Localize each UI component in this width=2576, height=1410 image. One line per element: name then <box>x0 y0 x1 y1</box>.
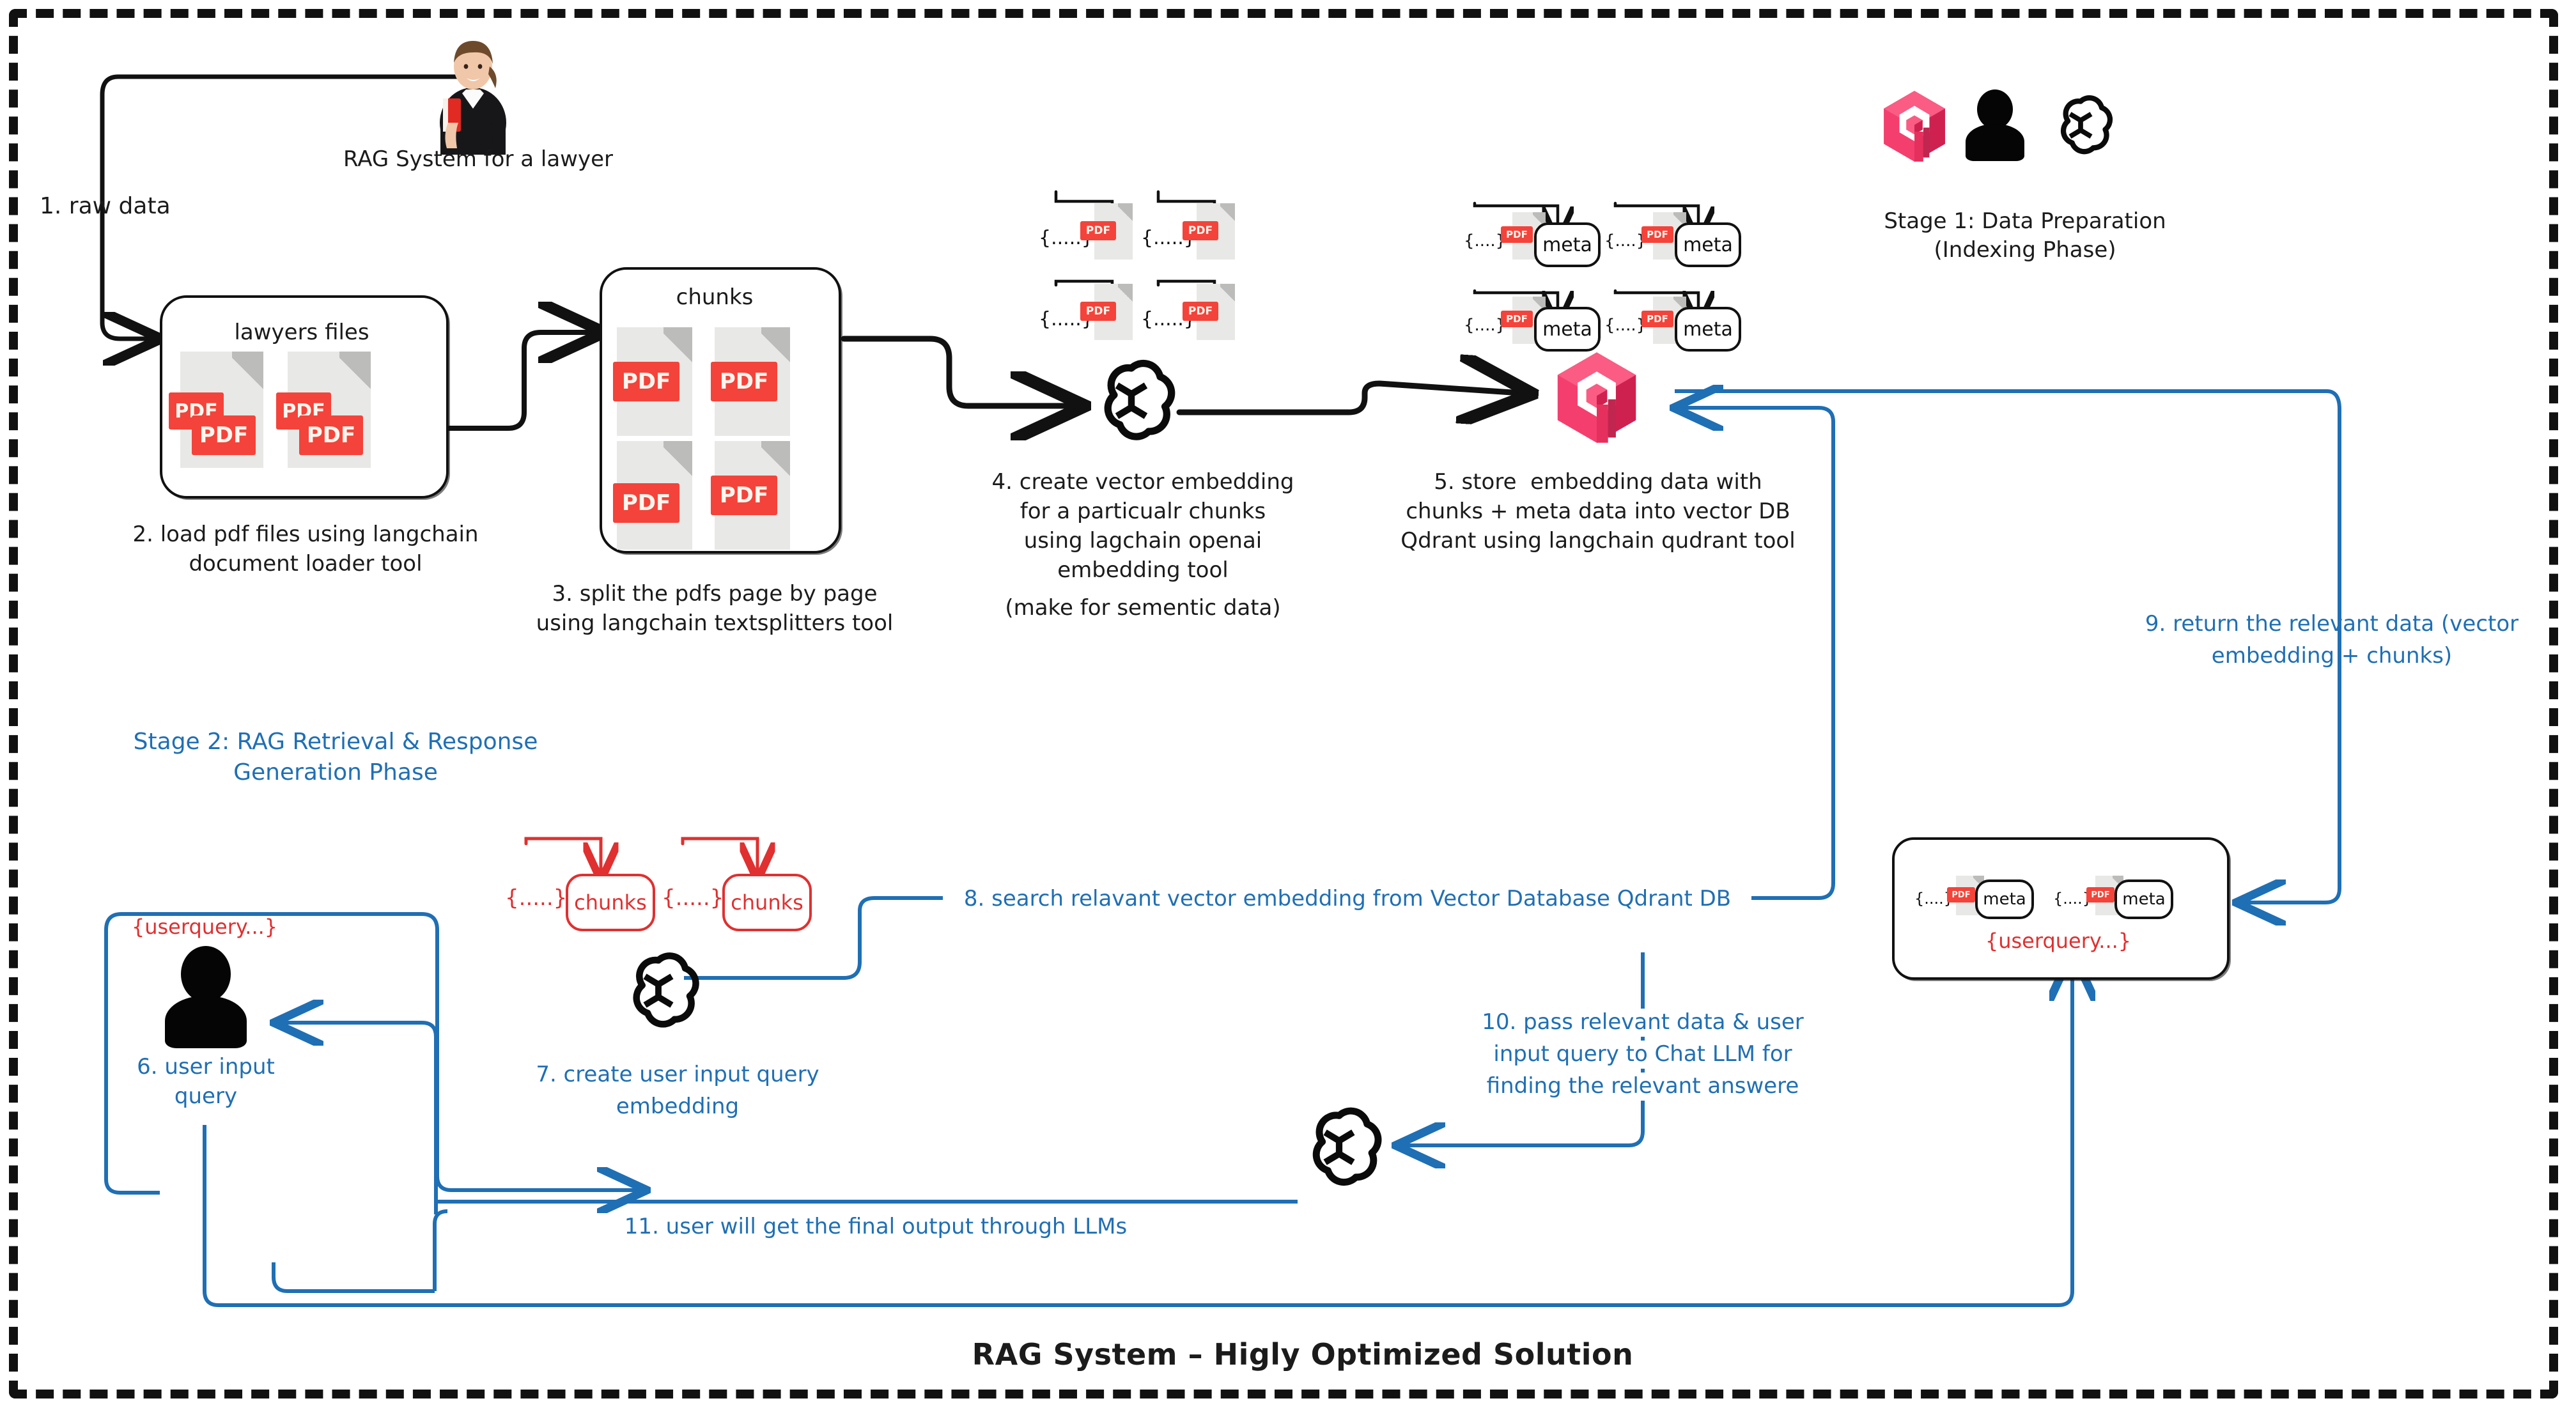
meta-pill: meta <box>1975 879 2034 919</box>
qdrant-logo-icon <box>1553 350 1640 445</box>
qdrant-brace: {....} <box>1464 316 1506 335</box>
meta-pill: meta <box>2114 879 2173 919</box>
hero-caption: RAG System for a lawyer <box>343 146 613 174</box>
step-4-line2: for a particualr chunks <box>1020 498 1266 526</box>
stage1-title-line1: Stage 1: Data Preparation <box>1884 208 2166 236</box>
dashed-page-border <box>9 9 2558 1398</box>
meta-pill: meta <box>1675 307 1741 352</box>
step-4-line4: embedding tool <box>1057 557 1228 585</box>
pdf-badge: PDF <box>1501 226 1533 243</box>
openai-chat-llm-icon <box>1292 1101 1386 1194</box>
pdf-badge: PDF <box>299 415 363 455</box>
step-11-label: 11. user will get the final output throu… <box>616 1213 1136 1241</box>
step-10-line2: input query to Chat LLM for <box>1488 1041 1797 1069</box>
user-icon <box>165 946 247 1048</box>
qdrant-brace: {....} <box>1464 231 1506 251</box>
step-5-line1: 5. store embedding data with <box>1434 469 1762 497</box>
pdf-badge: PDF <box>1183 221 1218 240</box>
pdf-icon: PDF <box>715 327 790 436</box>
pdf-icon: PDF <box>617 327 692 436</box>
stage1-title-line2: (Indexing Phase) <box>1934 236 2116 265</box>
openai-embedding-icon <box>1083 353 1179 449</box>
stage1-icon-openai <box>2045 89 2116 161</box>
pdf-badge: PDF <box>711 476 777 515</box>
pdf-badge: PDF <box>192 415 256 455</box>
query-chunk-brace: {.....} <box>662 885 724 911</box>
step-3-line1: 3. split the pdfs page by page <box>552 580 878 608</box>
pdf-icon: PDF <box>1197 284 1235 340</box>
step-3-line2: using langchain textsplitters tool <box>536 610 894 638</box>
pdf-badge: PDF <box>1641 311 1673 327</box>
lawyer-photo <box>425 27 521 155</box>
step-5-line2: chunks + meta data into vector DB <box>1406 498 1790 526</box>
meta-pill: meta <box>1675 222 1741 267</box>
step-4-line5: (make for sementic data) <box>1005 594 1280 623</box>
step-7-line1: 7. create user input query <box>536 1061 819 1089</box>
qdrant-brace: {....} <box>1604 231 1647 251</box>
pdf-icon: PDF PDF <box>180 352 263 468</box>
pdf-badge: PDF <box>1183 302 1218 321</box>
pdf-icon: PDF PDF <box>288 352 371 468</box>
pdf-badge: PDF <box>1947 887 1975 903</box>
page-title: RAG System – Higly Optimized Solution <box>972 1336 1634 1374</box>
retrieved-data-container <box>1892 837 2230 980</box>
qdrant-brace: {....} <box>1604 316 1647 335</box>
chunks-label: chunks <box>676 284 754 310</box>
pdf-icon: PDF <box>1197 203 1235 260</box>
pdf-badge: PDF <box>711 362 777 401</box>
stage1-icon-qdrant <box>1879 89 1950 163</box>
pdf-badge: PDF <box>1501 311 1533 327</box>
chunks-pill: chunks <box>566 874 655 931</box>
step-10-line3: finding the relevant answere <box>1482 1073 1804 1101</box>
step-6-line1: 6. user input <box>137 1053 275 1081</box>
step-2-line2: document loader tool <box>189 550 422 578</box>
step-1-label: 1. raw data <box>40 192 171 221</box>
pdf-icon: PDF <box>617 441 692 550</box>
chunks-pill: chunks <box>722 874 812 931</box>
pdf-badge: PDF <box>1641 226 1673 243</box>
step-4-line3: using lagchain openai <box>1024 527 1262 555</box>
stage2-title-line1: Stage 2: RAG Retrieval & Response <box>134 727 538 757</box>
openai-query-embedding-icon <box>614 946 703 1035</box>
step-4-line1: 4. create vector embedding <box>992 469 1294 497</box>
step-6-line2: query <box>175 1083 237 1111</box>
step-5-line3: Qdrant using langchain qudrant tool <box>1401 527 1795 555</box>
step-9-line1: 9. return the relevant data (vector <box>2145 610 2518 639</box>
step-8-label: 8. search relavant vector embedding from… <box>958 885 1737 913</box>
diagram-canvas: RAG System for a lawyer Stage 1: Data Pr… <box>0 0 2576 1410</box>
lawyers-files-label: lawyers files <box>234 320 369 345</box>
pdf-badge: PDF <box>1080 221 1116 240</box>
pdf-icon: PDF <box>1094 203 1133 260</box>
stage1-icon-user <box>1966 89 2024 161</box>
pdf-badge: PDF <box>613 483 679 523</box>
step-10-line1: 10. pass relevant data & user <box>1477 1009 1809 1037</box>
retrieved-userquery-text: {userquery...} <box>1985 928 2131 954</box>
pdf-badge: PDF <box>1080 302 1116 321</box>
query-chunk-brace: {.....} <box>505 885 567 911</box>
pdf-icon: PDF <box>1094 284 1133 340</box>
step-2-line1: 2. load pdf files using langchain <box>132 521 478 549</box>
meta-pill: meta <box>1534 222 1601 267</box>
pdf-badge: PDF <box>613 362 679 401</box>
step-9-line2: embedding + chunks) <box>2212 642 2452 670</box>
pdf-icon: PDF <box>715 441 790 550</box>
userquery-bubble-text: {userquery...} <box>132 914 277 940</box>
pdf-badge: PDF <box>2086 887 2114 903</box>
meta-pill: meta <box>1534 307 1601 352</box>
step-7-line2: embedding <box>616 1093 739 1121</box>
stage2-title-line2: Generation Phase <box>233 758 438 787</box>
